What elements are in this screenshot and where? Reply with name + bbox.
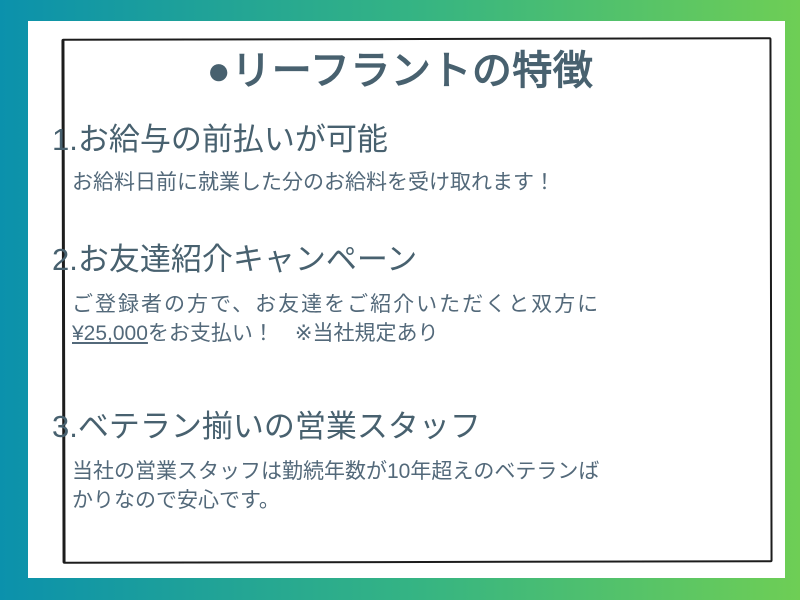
feature-1-heading: 1.お給与の前払いが可能	[52, 122, 752, 159]
feature-3-body-line-1: 当社の営業スタッフは勤続年数が10年超えのベテランば	[72, 457, 752, 487]
feature-1-body-line-1: お給料日前に就業した分のお給料を受け取れます！	[72, 168, 752, 198]
feature-3-body: 当社の営業スタッフは勤続年数が10年超えのベテランば かりなので安心です。	[72, 457, 752, 517]
feature-3-heading: 3.ベテラン揃いの営業スタッフ	[52, 409, 752, 446]
feature-item-3: 3.ベテラン揃いの営業スタッフ 当社の営業スタッフは勤続年数が10年超えのベテラ…	[52, 409, 752, 516]
poster-content: ●リーフラントの特徴 1.お給与の前払いが可能 お給料日前に就業した分のお給料を…	[0, 0, 800, 600]
feature-2-body-line-1: ご登録者の方で、お友達をご紹介いただくと双方に	[72, 290, 752, 320]
referral-bonus-amount: ¥25,000	[72, 322, 148, 345]
feature-1-body: お給料日前に就業した分のお給料を受け取れます！	[72, 168, 752, 198]
feature-item-1: 1.お給与の前払いが可能 お給料日前に就業した分のお給料を受け取れます！	[52, 122, 752, 197]
referral-bonus-note: をお支払い！ ※当社規定あり	[148, 322, 439, 345]
poster-root: ●リーフラントの特徴 1.お給与の前払いが可能 お給料日前に就業した分のお給料を…	[0, 0, 800, 600]
page-title: ●リーフラントの特徴	[0, 48, 800, 94]
feature-2-body-line-2: ¥25,000をお支払い！ ※当社規定あり	[72, 319, 752, 349]
feature-2-body: ご登録者の方で、お友達をご紹介いただくと双方に ¥25,000をお支払い！ ※当…	[72, 290, 752, 350]
feature-3-body-line-2: かりなので安心です。	[72, 486, 752, 516]
feature-item-2: 2.お友達紹介キャンペーン ご登録者の方で、お友達をご紹介いただくと双方に ¥2…	[52, 242, 752, 349]
feature-2-heading: 2.お友達紹介キャンペーン	[52, 242, 752, 279]
